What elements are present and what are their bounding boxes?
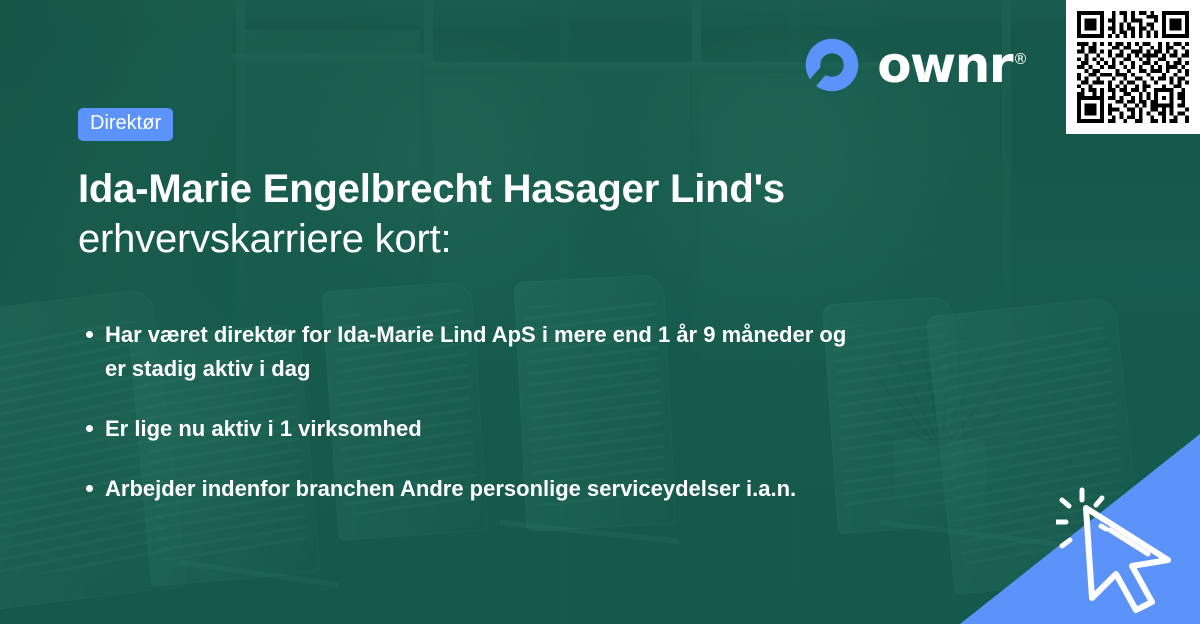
ownr-circle-swoosh-logo-icon xyxy=(803,36,861,94)
role-badge: Direktør xyxy=(78,108,173,141)
list-item: Har været direktør for Ida-Marie Lind Ap… xyxy=(78,318,865,386)
business-card-graphic: ownr® Direktør Ida-Marie Engelbrecht Has… xyxy=(0,0,1200,624)
card-content: Direktør Ida-Marie Engelbrecht Hasager L… xyxy=(78,108,958,533)
registered-trademark-icon: ® xyxy=(1013,50,1028,68)
ownr-wordmark: ownr® xyxy=(877,40,1028,90)
headline-line-2: erhvervskarriere kort: xyxy=(78,217,451,261)
list-item: Arbejder indenfor branchen Andre personl… xyxy=(78,472,865,506)
page-title: Ida-Marie Engelbrecht Hasager Lind's erh… xyxy=(78,165,958,264)
list-item: Er lige nu aktiv i 1 virksomhed xyxy=(78,412,865,446)
click-cursor-icon xyxy=(1056,486,1188,614)
career-facts-list: Har været direktør for Ida-Marie Lind Ap… xyxy=(78,318,958,506)
brand-name: ownr xyxy=(877,36,1012,94)
qr-code[interactable] xyxy=(1077,11,1189,123)
qr-code-panel[interactable] xyxy=(1066,0,1200,134)
ownr-logo[interactable]: ownr® xyxy=(803,36,1028,94)
headline-line-1: Ida-Marie Engelbrecht Hasager Lind's xyxy=(78,167,785,211)
